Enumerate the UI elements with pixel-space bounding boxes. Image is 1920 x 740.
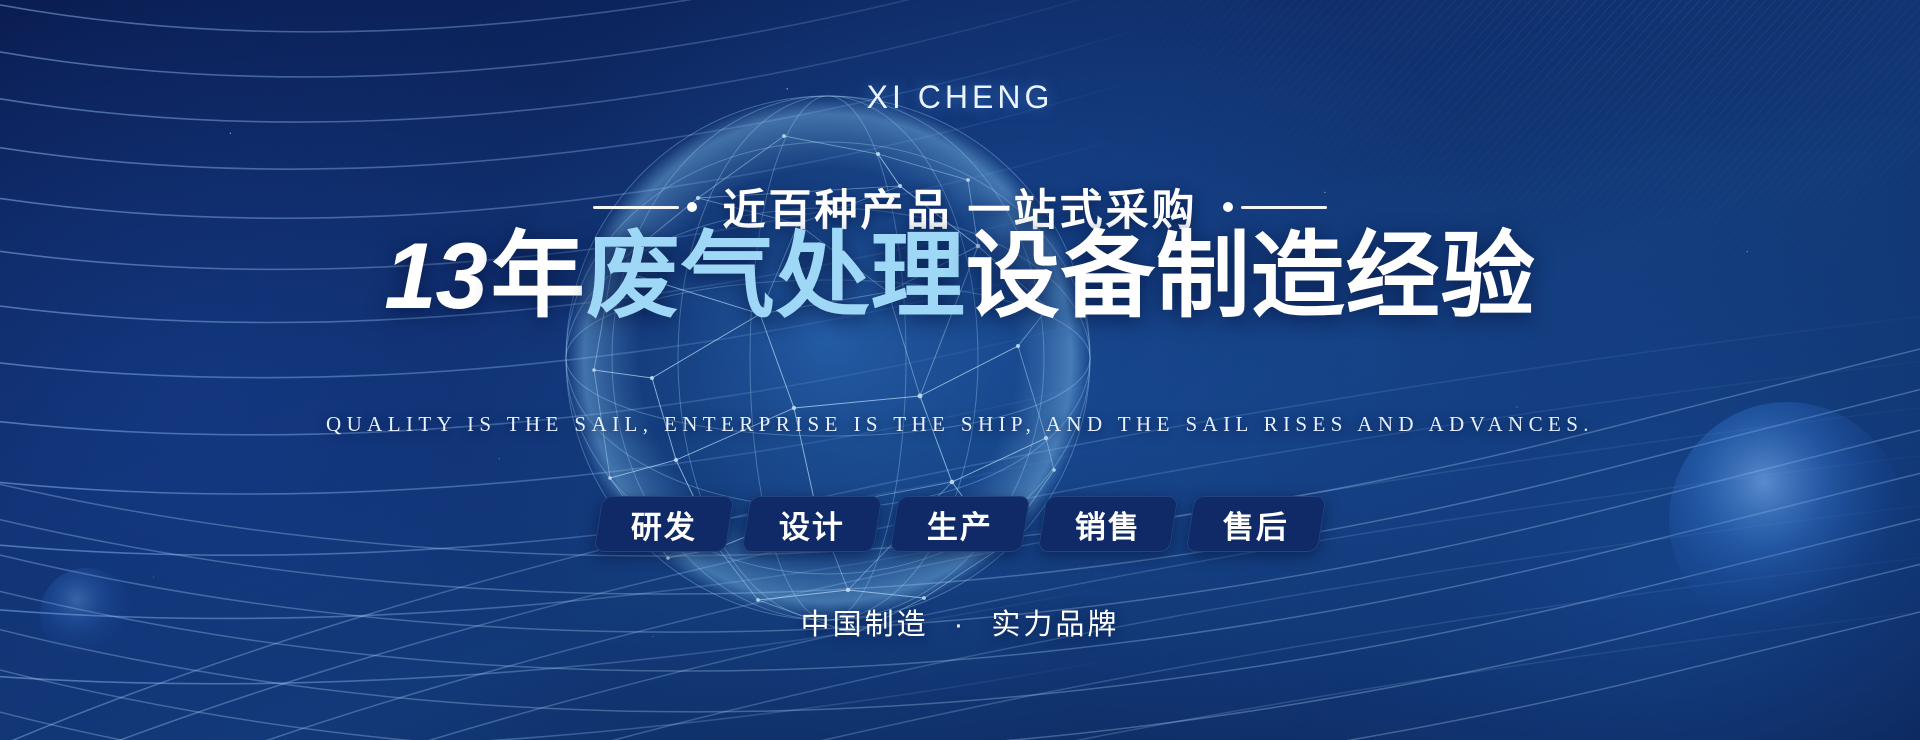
footnote-separator-dot: · [940,609,981,641]
service-pill-rnd[interactable]: 研发 [594,496,735,552]
banner-content: XI CHENG 近百种产品 一站式采购 13年废气处理设备制造经验 QUALI… [0,0,1920,740]
banner-footnote: 中国制造 · 实力品牌 [0,601,1920,643]
rule-dot [1223,202,1233,212]
headline-years-unit: 年 [491,223,586,328]
service-pill-production[interactable]: 生产 [890,496,1031,552]
banner-tagline-english: QUALITY IS THE SAIL, ENTERPRISE IS THE S… [0,412,1920,437]
banner-headline: 13年废气处理设备制造经验 [0,223,1920,328]
service-pill-label: 设计 [779,502,845,547]
service-pill-label: 售后 [1223,502,1289,547]
rule-bar [593,206,679,209]
brand-name-english: XI CHENG [0,79,1920,116]
service-pill-sales[interactable]: 销售 [1038,496,1179,552]
headline-highlight: 废气处理 [586,223,966,328]
service-pill-aftersales[interactable]: 售后 [1186,496,1327,552]
rule-dot [687,202,697,212]
service-pill-label: 生产 [927,502,993,547]
hero-banner: XI CHENG 近百种产品 一站式采购 13年废气处理设备制造经验 QUALI… [0,0,1920,740]
headline-years-number: 13 [384,223,491,328]
service-pill-label: 销售 [1075,502,1141,547]
headline-rest: 设备制造经验 [966,223,1536,328]
service-pill-list: 研发 设计 生产 销售 售后 [0,496,1920,552]
service-pill-design[interactable]: 设计 [742,496,883,552]
right-rule-decoration [1223,202,1327,212]
footnote-left-text: 中国制造 [801,609,929,641]
rule-bar [1241,206,1327,209]
left-rule-decoration [593,202,697,212]
service-pill-label: 研发 [631,502,697,547]
footnote-right-text: 实力品牌 [991,609,1119,641]
